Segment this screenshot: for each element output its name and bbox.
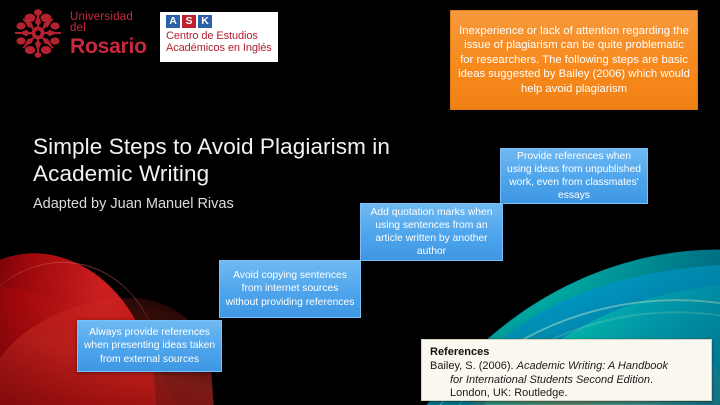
reference-entry-line-2: for International Students Second Editio… bbox=[430, 374, 703, 388]
ask-logo-line-1: Centro de Estudios bbox=[166, 30, 273, 42]
ask-letter-s: S bbox=[182, 15, 196, 28]
ask-letter-row: A S K bbox=[166, 15, 273, 28]
step-box-3: Add quotation marks when using sentences… bbox=[360, 203, 503, 261]
universidad-del-rosario-logo: Universidad del Rosario bbox=[12, 8, 152, 60]
references-panel: References Bailey, S. (2006). Academic W… bbox=[421, 339, 712, 401]
step-box-1: Always provide references when presentin… bbox=[77, 320, 222, 372]
reference-author-year: Bailey, S. (2006). bbox=[430, 360, 517, 372]
heraldic-crest-icon bbox=[12, 9, 64, 59]
title-block: Simple Steps to Avoid Plagiarism in Acad… bbox=[33, 133, 433, 214]
red-swoosh-main bbox=[0, 232, 186, 405]
logo-line-1: Universidad del bbox=[70, 12, 152, 35]
reference-entry-line-1: Bailey, S. (2006). Academic Writing: A H… bbox=[430, 360, 703, 374]
ask-letter-k: K bbox=[198, 15, 212, 28]
reference-title-period: . bbox=[650, 374, 653, 386]
reference-title-part-1: Academic Writing: A Handbook bbox=[517, 360, 668, 372]
step-box-4: Provide references when using ideas from… bbox=[500, 148, 648, 204]
step-box-2: Avoid copying sentences from internet so… bbox=[219, 260, 361, 318]
page-title: Simple Steps to Avoid Plagiarism in Acad… bbox=[33, 133, 433, 187]
ask-letter-a: A bbox=[166, 15, 180, 28]
intro-callout-box: Inexperience or lack of attention regard… bbox=[450, 10, 698, 110]
reference-entry-line-3: London, UK: Routledge. bbox=[430, 387, 703, 401]
references-heading: References bbox=[430, 345, 703, 359]
ask-centro-de-estudios-logo: A S K Centro de Estudios Académicos en I… bbox=[160, 12, 278, 62]
reference-title-part-2: for International Students Second Editio… bbox=[450, 374, 650, 386]
presentation-slide: Universidad del Rosario A S K Centro de … bbox=[0, 0, 720, 405]
logo-line-2: Rosario bbox=[70, 36, 152, 57]
ask-logo-line-2: Académicos en Inglés bbox=[166, 42, 273, 54]
